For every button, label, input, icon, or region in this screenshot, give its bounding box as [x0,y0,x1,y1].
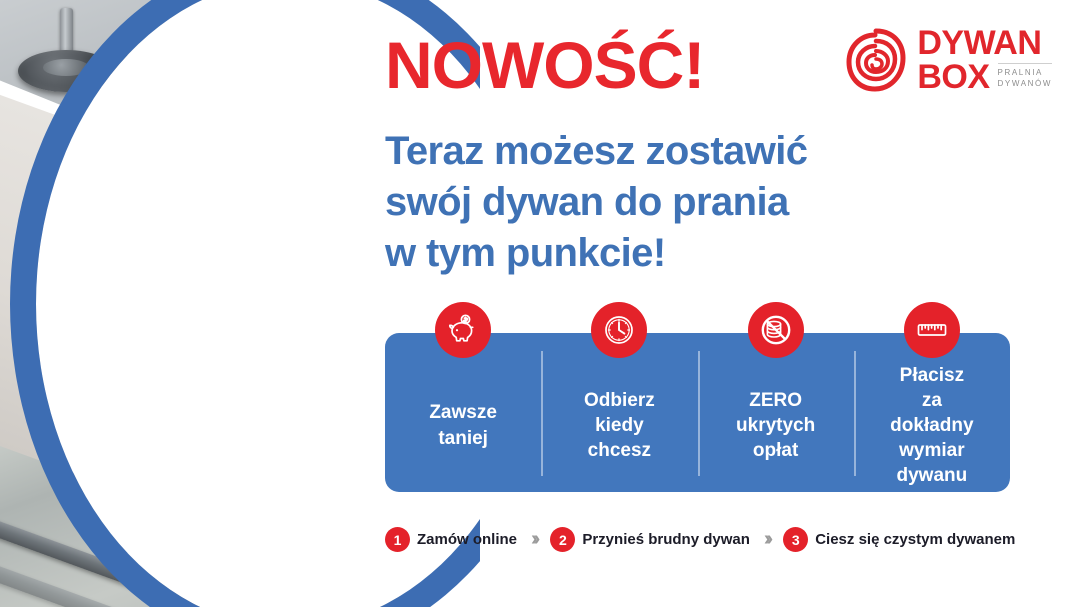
logo-word-dywan: DYWAN [917,26,1041,60]
logo-subtitle: PRALNIA DYWANÓW [998,63,1052,94]
no-hidden-fees-icon [748,302,804,358]
benefits-panel: Zawsze taniej [385,333,1010,492]
logo-word-box: BOX [917,60,989,94]
benefit-label-line: kiedy [584,413,655,438]
piggy-bank-icon [435,302,491,358]
step-item-1: 1 Zamów online [385,527,517,552]
benefit-label-line: wymiar [890,438,973,463]
benefit-label-line: Odbierz [584,388,655,413]
subheadline: Teraz możesz zostawić swój dywan do pran… [385,126,807,280]
step-item-3: 3 Ciesz się czystym dywanem [783,527,1015,552]
benefit-label-line: chcesz [584,438,655,463]
benefit-item-no-hidden-fees: ZERO ukrytych opłat [698,333,854,492]
step-number-badge: 3 [783,527,808,552]
logo-subtitle-line1: PRALNIA [998,68,1043,77]
chevron-right-icon: ›› [527,528,540,551]
headline-nowosc: NOWOŚĆ! [385,32,704,98]
benefit-label-line: dokładny [890,413,973,438]
chevron-right-icon: ›› [760,528,773,551]
benefit-item-pickup-anytime: Odbierz kiedy chcesz [541,333,697,492]
brand-logo: DYWAN BOX PRALNIA DYWANÓW [845,26,1052,94]
benefit-item-cheaper: Zawsze taniej [385,333,541,492]
step-item-2: 2 Przynieś brudny dywan [550,527,750,552]
benefit-item-exact-size: Płacisz za dokładny wymiar dywanu [854,333,1010,492]
subheadline-line-2: swój dywan do prania [385,177,807,228]
subheadline-line-3: w tym punkcie! [385,228,807,279]
promo-banner: DYWAN BOX PRALNIA DYWANÓW NOWOŚĆ! Teraz … [0,0,1080,607]
step-label: Zamów online [417,531,517,548]
benefit-label-line: dywanu [890,463,973,488]
benefit-label: ZERO ukrytych opłat [736,388,815,463]
step-number-badge: 2 [550,527,575,552]
benefit-label: Odbierz kiedy chcesz [584,388,655,463]
step-number-badge: 1 [385,527,410,552]
benefit-label-line: ukrytych [736,413,815,438]
clock-icon [591,302,647,358]
benefit-label-line: za [890,388,973,413]
benefit-label: Płacisz za dokładny wymiar dywanu [890,363,973,488]
benefit-label-line: Zawsze [429,400,497,425]
subheadline-line-1: Teraz możesz zostawić [385,126,807,177]
carpet-spiral-icon [845,27,907,93]
step-label: Ciesz się czystym dywanem [815,531,1015,548]
benefit-label-line: opłat [736,438,815,463]
step-label: Przynieś brudny dywan [582,531,750,548]
benefit-label-line: taniej [429,426,497,451]
benefit-label: Zawsze taniej [429,400,497,450]
benefit-label-line: Płacisz [890,363,973,388]
benefit-label-line: ZERO [736,388,815,413]
steps-strip: 1 Zamów online ›› 2 Przynieś brudny dywa… [385,527,1025,552]
logo-subtitle-line2: DYWANÓW [998,79,1052,88]
ruler-icon [904,302,960,358]
